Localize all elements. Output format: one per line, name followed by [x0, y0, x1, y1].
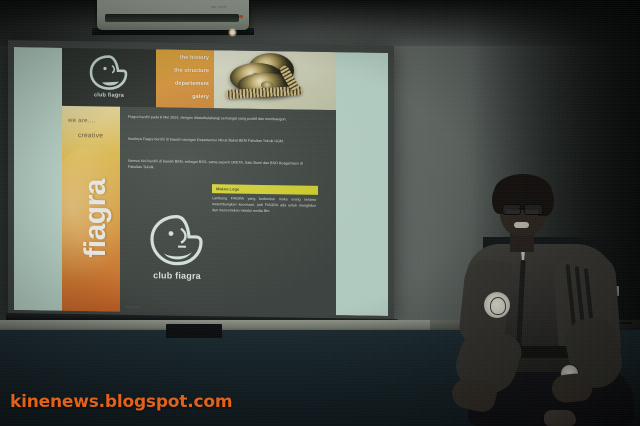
glasses-right-lens	[524, 204, 543, 215]
person-foot	[544, 410, 576, 426]
watermark: kinenews.blogspot.com	[10, 392, 232, 412]
makna-logo-heading: Makna Logo	[212, 184, 318, 195]
makna-logo-body: Lambang FIAGRA yang berbentuk muka orang…	[212, 196, 316, 215]
slide-footnote: club fiagra	[126, 305, 140, 309]
tagline-line-2: creative	[78, 132, 103, 139]
ceiling-shadow	[0, 0, 640, 46]
large-logo-caption: club fiagra	[136, 270, 218, 281]
jacket-logo-patch	[484, 292, 510, 318]
menu-item-the-history[interactable]: the history	[156, 54, 214, 61]
equipment-box	[166, 324, 222, 338]
slide-logo-caption: club fiagra	[62, 92, 156, 99]
slide-paragraph-1: Fiagra berdiri pada 8 Mei 2001, dengan d…	[128, 115, 314, 123]
menu-item-the-structure[interactable]: the structure	[156, 67, 214, 74]
person-mouth	[514, 222, 529, 228]
slide-nav-menu: the history the structure departement ga…	[156, 49, 214, 108]
slide-logo-cell: club fiagra	[62, 48, 156, 107]
slide-bottom-row: we are.... creative fiagra Fiagra berdir…	[62, 106, 336, 315]
slide-header-image	[214, 50, 336, 110]
glasses-left-lens	[502, 204, 521, 215]
air-conditioner-unit: ac-unit	[97, 0, 249, 30]
projected-slide: club fiagra the history the structure de…	[14, 47, 388, 316]
ac-brand-label: ac-unit	[211, 4, 227, 9]
ac-indicator-led	[239, 15, 243, 18]
menu-item-departement[interactable]: departement	[156, 80, 214, 87]
slide-body: Fiagra berdiri pada 8 Mei 2001, dengan d…	[120, 107, 336, 315]
club-fiagra-face-icon	[88, 54, 130, 91]
photo-scene: ac-unit club fiagra	[0, 0, 640, 426]
person-glasses	[502, 204, 546, 213]
vertical-wordmark: fiagra	[79, 158, 113, 279]
tagline-line-1: we are....	[68, 118, 96, 124]
slide-paragraph-2: Awalnya Fiagra berdiri di bawah naungan …	[128, 137, 314, 145]
club-fiagra-large-face-icon	[148, 213, 206, 270]
slide-right-pane	[336, 52, 388, 316]
slide-left-pane	[14, 47, 62, 311]
slide-paragraph-3: Namun kini berdiri di bawah BEM, sebagai…	[128, 159, 314, 173]
ac-vent	[105, 14, 239, 22]
slide-brand-panel: we are.... creative fiagra	[62, 106, 120, 312]
menu-item-galery[interactable]: galery	[156, 93, 214, 100]
jacket-patch-emblem	[490, 297, 506, 315]
makna-logo-heading-text: Makna Logo	[212, 184, 318, 193]
slide-content: club fiagra the history the structure de…	[62, 48, 336, 315]
ceiling-light-glow	[228, 28, 237, 37]
seated-presenter	[452, 168, 640, 426]
slide-top-row: club fiagra the history the structure de…	[62, 48, 336, 110]
